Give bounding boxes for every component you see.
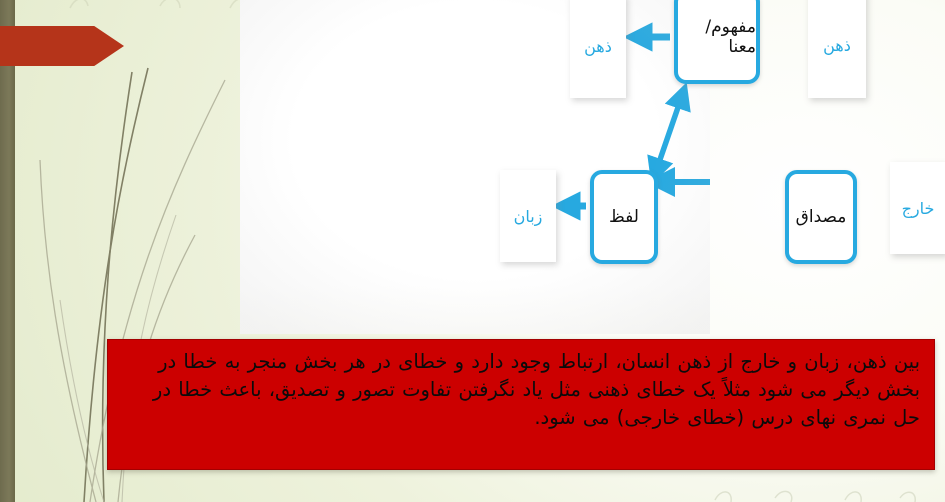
left-accent-bar — [0, 0, 15, 502]
diagram-connectors — [240, 0, 710, 334]
card-external[interactable]: خارج — [890, 162, 945, 254]
card-language-label: زبان — [514, 207, 543, 226]
card-mind-left[interactable]: ذهن — [570, 0, 626, 98]
node-concept[interactable]: مفهوم/معنا — [674, 0, 760, 84]
presentation-slide: ذهن ذهن زبان خارج مفهوم/معنا لفظ مصداق ب… — [0, 0, 945, 502]
card-mind-right[interactable]: ذهن — [808, 0, 866, 98]
node-mesdaq[interactable]: مصداق — [785, 170, 857, 264]
decorative-bottom-glyphs — [695, 484, 935, 502]
connector-lafz-concept — [654, 90, 684, 177]
card-mind-left-label: ذهن — [584, 37, 612, 56]
card-language[interactable]: زبان — [500, 170, 556, 262]
card-mind-right-label: ذهن — [823, 36, 851, 55]
card-external-label: خارج — [902, 199, 935, 218]
banner-arrow-shape — [0, 26, 124, 66]
node-concept-label: مفهوم/معنا — [678, 17, 756, 57]
caption-text: بین ذهن، زبان و خارج از ذهن انسان، ارتبا… — [122, 348, 920, 432]
diagram-panel: ذهن ذهن زبان خارج مفهوم/معنا لفظ مصداق — [240, 0, 710, 334]
node-mesdaq-label: مصداق — [796, 207, 847, 227]
caption-box[interactable]: بین ذهن، زبان و خارج از ذهن انسان، ارتبا… — [107, 339, 935, 470]
node-lafz[interactable]: لفظ — [590, 170, 658, 264]
node-lafz-label: لفظ — [609, 207, 639, 227]
